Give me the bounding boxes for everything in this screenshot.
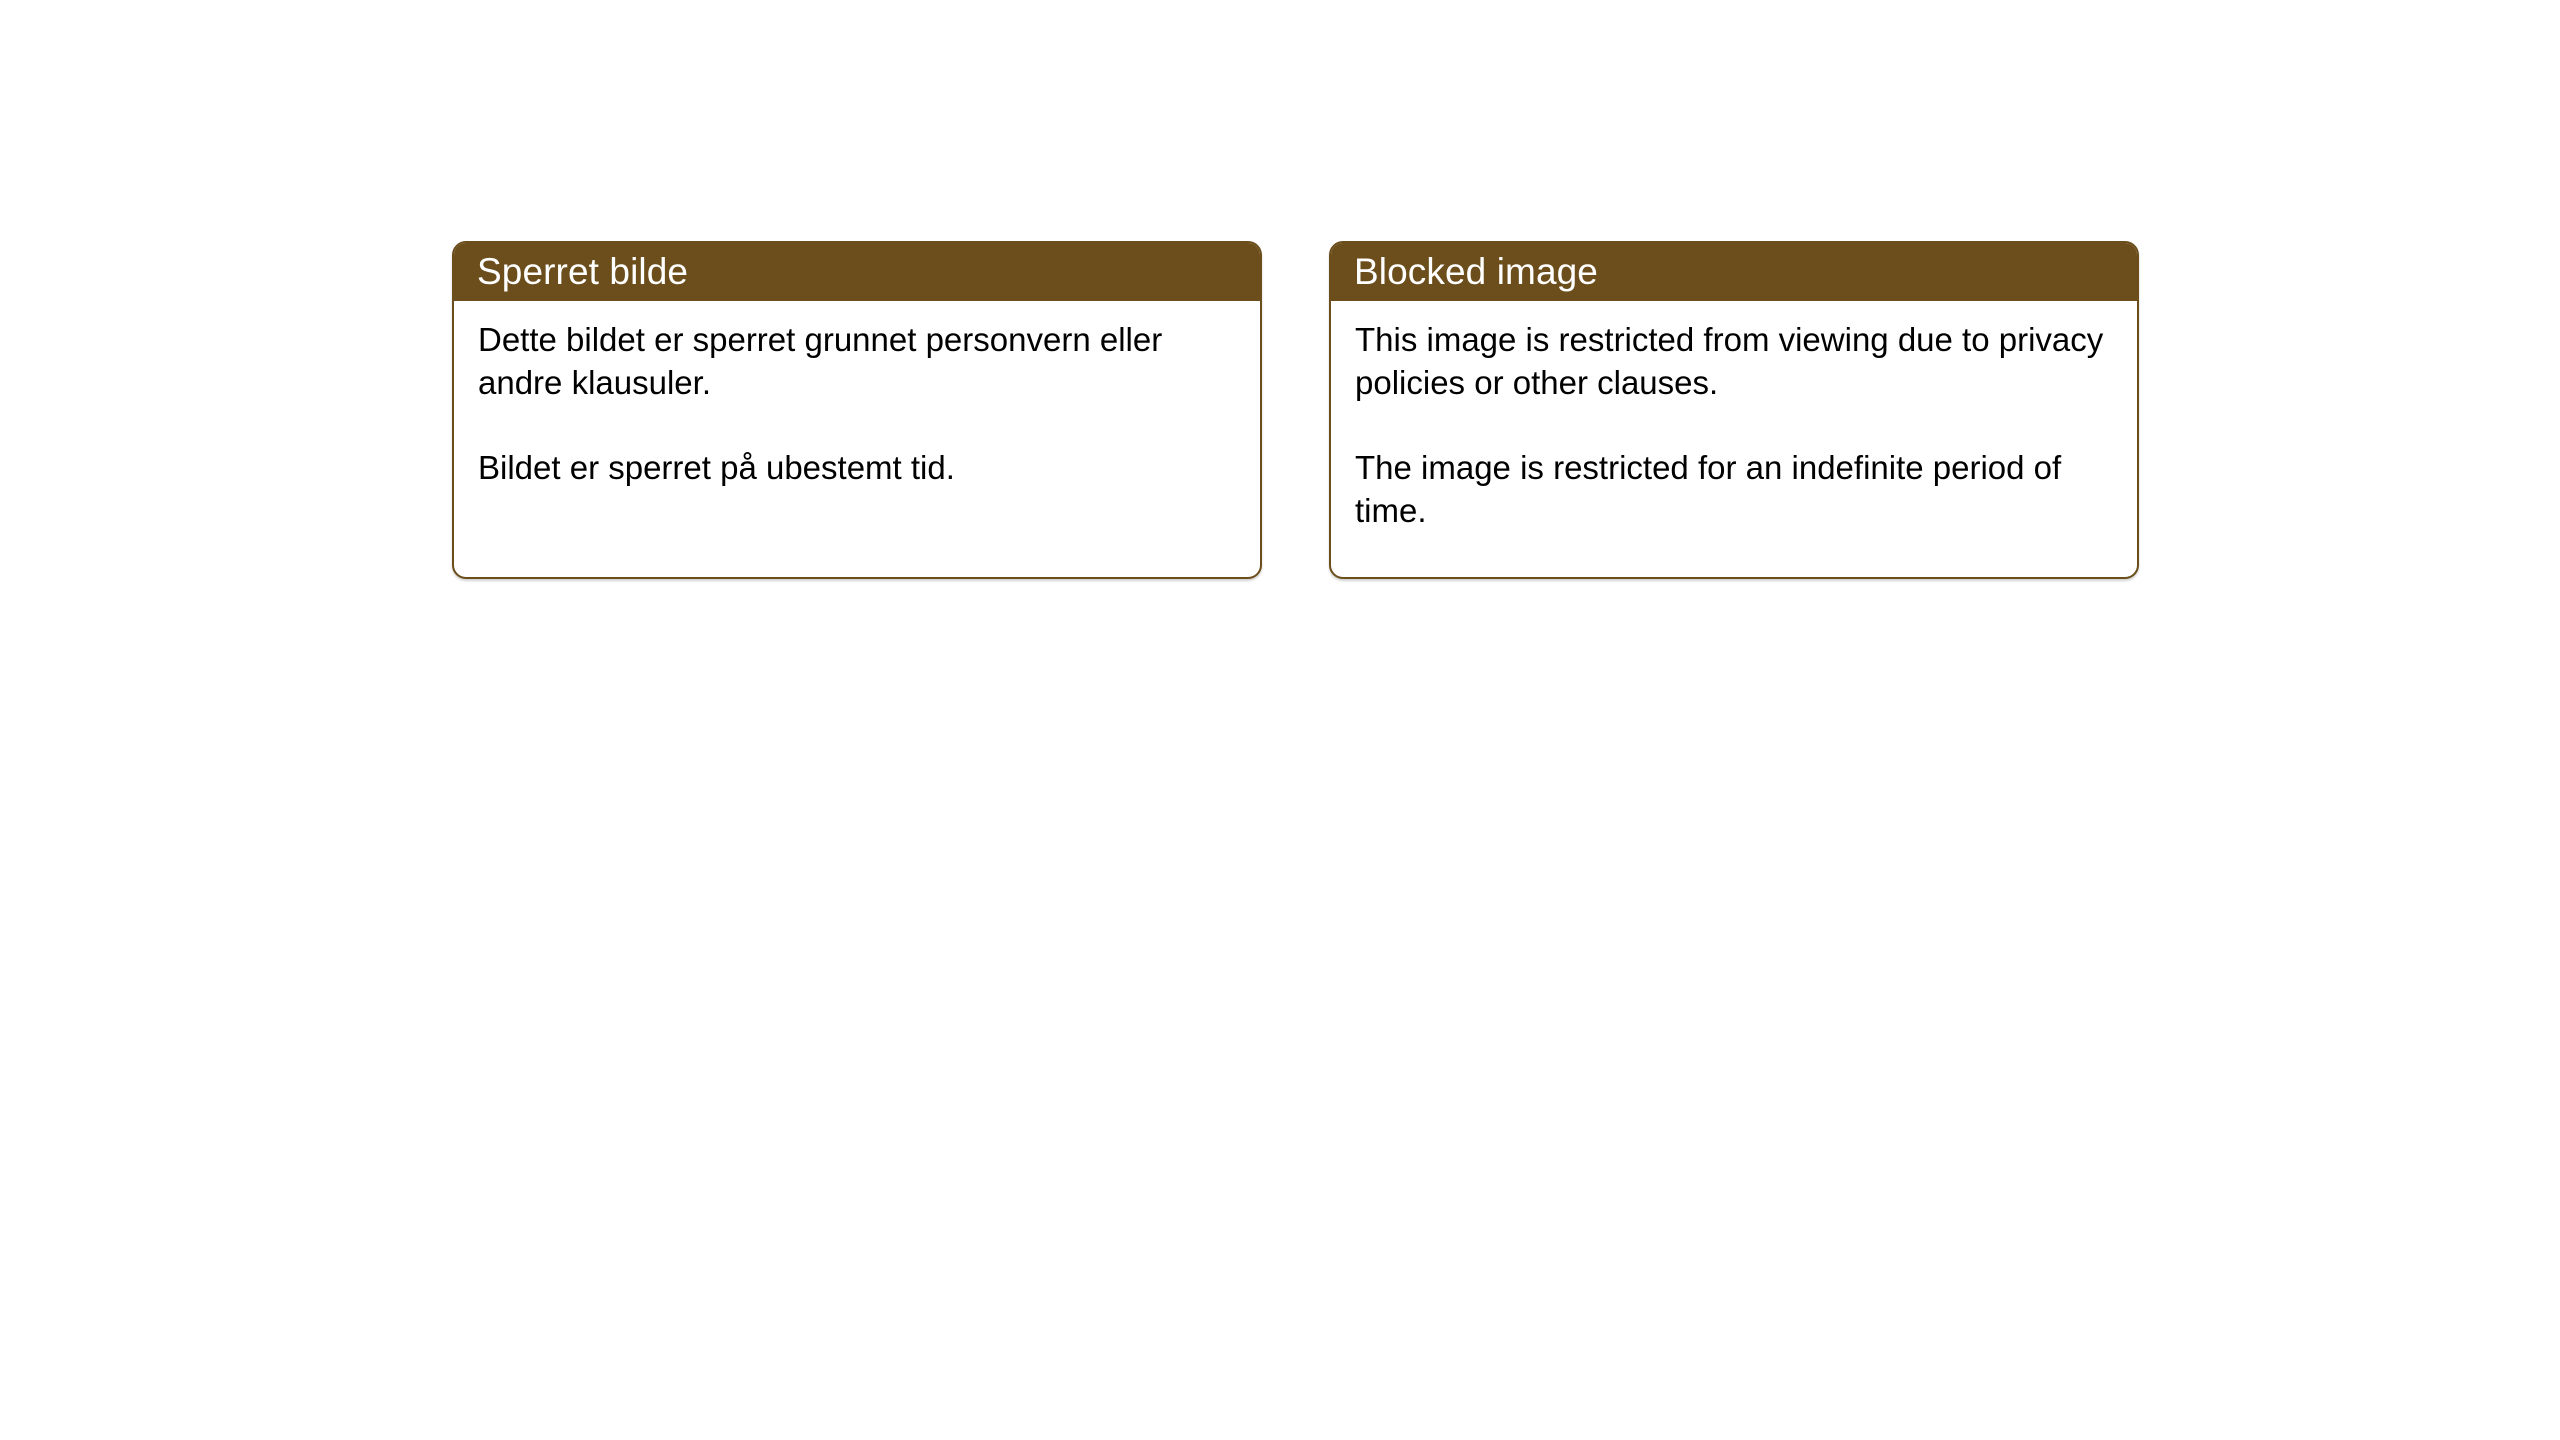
card-header-no: Sperret bilde [454, 243, 1260, 301]
card-paragraph-reason-en: This image is restricted from viewing du… [1355, 319, 2117, 405]
card-title-no: Sperret bilde [477, 253, 688, 290]
blocked-image-notice-card-no: Sperret bilde Dette bildet er sperret gr… [452, 241, 1262, 579]
card-body-no: Dette bildet er sperret grunnet personve… [454, 301, 1260, 510]
page-canvas: Sperret bilde Dette bildet er sperret gr… [0, 0, 2560, 1440]
card-body-en: This image is restricted from viewing du… [1331, 301, 2137, 553]
card-paragraph-reason-no: Dette bildet er sperret grunnet personve… [478, 319, 1240, 405]
card-header-en: Blocked image [1331, 243, 2137, 301]
blocked-image-notice-card-en: Blocked image This image is restricted f… [1329, 241, 2139, 579]
card-paragraph-duration-no: Bildet er sperret på ubestemt tid. [478, 447, 1240, 490]
card-paragraph-duration-en: The image is restricted for an indefinit… [1355, 447, 2117, 533]
card-title-en: Blocked image [1354, 253, 1598, 290]
